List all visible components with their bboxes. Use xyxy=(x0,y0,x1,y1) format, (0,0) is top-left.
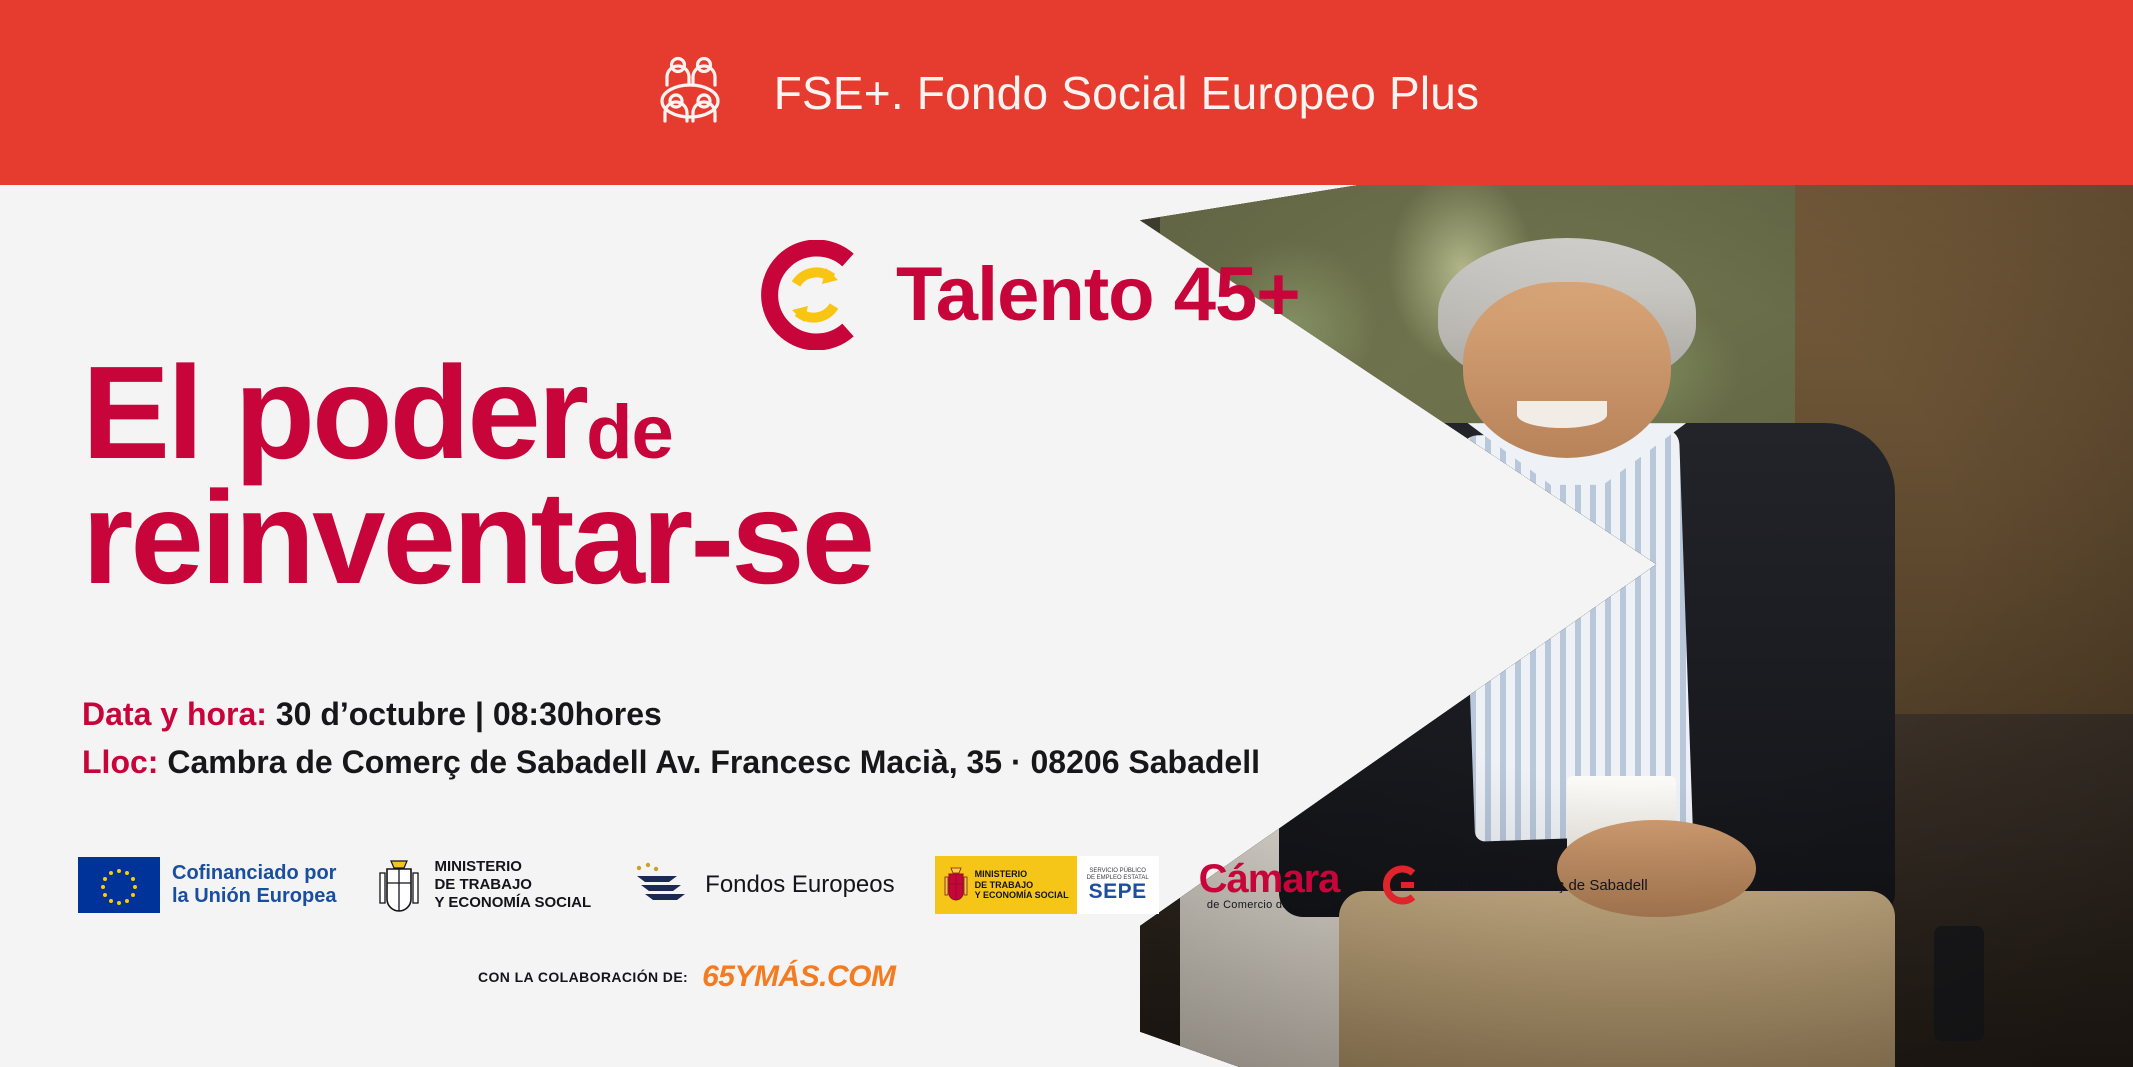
fondos-europeos-icon xyxy=(631,862,693,908)
eu-flag-icon xyxy=(78,857,160,913)
event-location-line: Lloc: Cambra de Comerç de Sabadell Av. F… xyxy=(82,738,1260,786)
ministerio-line-1: MINISTERIO xyxy=(434,858,522,875)
sepe-top-line-1: SERVICIO PÚBLICO xyxy=(1089,868,1146,875)
camara-wordmark: Cámara xyxy=(1199,859,1340,899)
logo-sepe: MINISTERIO DE TRABAJO Y ECONOMÍA SOCIAL … xyxy=(935,856,1159,914)
cambra-label: Cambra de Comerç de Sabadell xyxy=(1433,877,1647,894)
logo-camara-espana: Cámara de Comercio de España xyxy=(1199,859,1340,911)
logo-cambra-sabadell: Cambra de Comerç de Sabadell xyxy=(1379,863,1647,907)
event-place-label: Lloc: xyxy=(82,744,158,780)
eu-logo-text: Cofinanciado por la Unión Europea xyxy=(172,862,336,908)
sepe-word-block: SERVICIO PÚBLICO DE EMPLEO ESTATAL SEPE xyxy=(1077,856,1159,914)
page-title: El poderde reinventar-se xyxy=(82,352,872,599)
ministerio-line-3: Y ECONOMÍA SOCIAL xyxy=(434,894,591,911)
sepe-ministry-block: MINISTERIO DE TRABAJO Y ECONOMÍA SOCIAL xyxy=(935,856,1077,914)
event-place-value: Cambra de Comerç de Sabadell Av. Frances… xyxy=(167,744,1260,780)
logo-european-union: Cofinanciado por la Unión Europea xyxy=(78,857,336,913)
sepe-ministry-line-2: DE TRABAJO xyxy=(975,880,1034,890)
event-banner: FSE+. Fondo Social Europeo Plus xyxy=(0,0,2133,1067)
people-group-icon xyxy=(654,54,726,132)
event-date-value: 30 d’octubre | 08:30hores xyxy=(276,696,662,732)
talento-logo-lockup: Talento 45+ xyxy=(760,240,1300,350)
spain-coat-of-arms-icon xyxy=(376,855,422,915)
event-details: Data y hora: 30 d’octubre | 08:30hores L… xyxy=(82,690,1260,786)
headline-line-2: reinventar-se xyxy=(82,477,872,598)
eu-logo-line-1: Cofinanciado por xyxy=(172,862,336,884)
funder-logo-row: Cofinanciado por la Unión Europea MINIST… xyxy=(78,855,1648,915)
logo-fondos-europeos: Fondos Europeos xyxy=(631,862,894,908)
cambra-c-icon xyxy=(1379,863,1423,907)
sepe-ministry-line-3: Y ECONOMÍA SOCIAL xyxy=(975,890,1069,900)
sepe-wordmark: SEPE xyxy=(1089,881,1147,902)
camara-subtitle: de Comercio de España xyxy=(1207,899,1331,911)
collaboration-label: CON LA COLABORACIÓN DE: xyxy=(478,969,688,985)
fondos-europeos-label: Fondos Europeos xyxy=(705,871,894,899)
event-datetime-line: Data y hora: 30 d’octubre | 08:30hores xyxy=(82,690,1260,738)
talento-cycle-icon xyxy=(760,240,870,350)
eu-logo-line-2: la Unión Europea xyxy=(172,885,336,907)
logo-ministerio-trabajo: MINISTERIO DE TRABAJO Y ECONOMÍA SOCIAL xyxy=(376,855,591,915)
headline-line-1: El poderde xyxy=(82,352,872,473)
talento-wordmark: Talento 45+ xyxy=(896,257,1300,333)
headline-small-word: de xyxy=(586,390,673,475)
header-title: FSE+. Fondo Social Europeo Plus xyxy=(774,66,1480,120)
spain-coat-of-arms-icon xyxy=(943,865,969,905)
collaboration-row: CON LA COLABORACIÓN DE: 65YMÁS.COM xyxy=(478,960,896,994)
event-date-label: Data y hora: xyxy=(82,696,267,732)
sepe-ministry-line-1: MINISTERIO xyxy=(975,869,1028,879)
ministerio-line-2: DE TRABAJO xyxy=(434,876,532,893)
ministerio-logo-text: MINISTERIO DE TRABAJO Y ECONOMÍA SOCIAL xyxy=(434,858,591,912)
header-bar: FSE+. Fondo Social Europeo Plus xyxy=(0,0,2133,185)
collaborator-logo-65ymas: 65YMÁS.COM xyxy=(702,960,895,994)
sepe-ministry-text: MINISTERIO DE TRABAJO Y ECONOMÍA SOCIAL xyxy=(975,869,1069,900)
